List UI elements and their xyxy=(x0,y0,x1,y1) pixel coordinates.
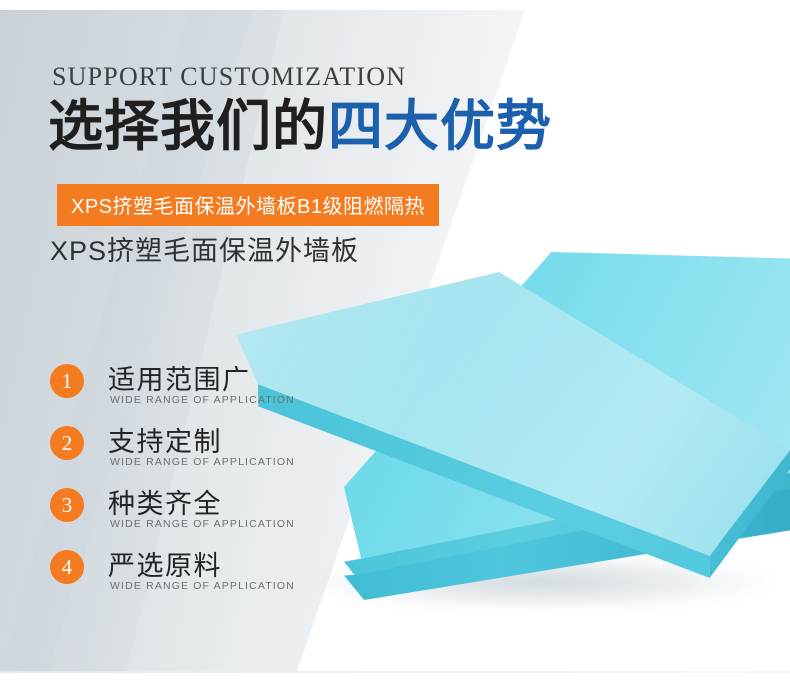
feature-title: 严选原料 xyxy=(108,544,222,583)
feature-item: 2 支持定制 WIDE RANGE OF APPLICATION xyxy=(50,420,310,482)
feature-list: 1 适用范围广 WIDE RANGE OF APPLICATION 2 支持定制… xyxy=(50,358,310,606)
feature-title: 支持定制 xyxy=(108,420,222,459)
feature-number-badge: 4 xyxy=(50,550,84,584)
headline-accent-text: 四大优势 xyxy=(328,95,552,157)
feature-item: 1 适用范围广 WIDE RANGE OF APPLICATION xyxy=(50,358,310,420)
feature-number-badge: 1 xyxy=(50,364,84,398)
feature-subtitle: WIDE RANGE OF APPLICATION xyxy=(110,518,295,530)
promo-banner: SUPPORT CUSTOMIZATION 选择我们的四大优势 XPS挤塑毛面保… xyxy=(0,0,790,694)
feature-item: 3 种类齐全 WIDE RANGE OF APPLICATION xyxy=(50,482,310,544)
feature-title: 种类齐全 xyxy=(108,482,222,521)
headline-plain-text: 选择我们的 xyxy=(48,95,328,157)
product-subtitle: XPS挤塑毛面保温外墙板 xyxy=(50,229,359,268)
eyebrow-text: SUPPORT CUSTOMIZATION xyxy=(52,62,406,92)
page-title: 选择我们的四大优势 xyxy=(48,95,552,158)
feature-number-badge: 3 xyxy=(50,488,84,522)
feature-item: 4 严选原料 WIDE RANGE OF APPLICATION xyxy=(50,544,310,606)
feature-subtitle: WIDE RANGE OF APPLICATION xyxy=(110,394,295,406)
feature-title: 适用范围广 xyxy=(108,358,251,397)
product-highlight-ribbon: XPS挤塑毛面保温外墙板B1级阻燃隔热 xyxy=(57,184,439,226)
background-bottom-white-band xyxy=(0,673,790,694)
feature-number-badge: 2 xyxy=(50,426,84,460)
product-image-xps-boards xyxy=(236,252,790,620)
feature-subtitle: WIDE RANGE OF APPLICATION xyxy=(110,580,295,592)
background-top-white-band xyxy=(0,0,790,10)
feature-subtitle: WIDE RANGE OF APPLICATION xyxy=(110,456,295,468)
